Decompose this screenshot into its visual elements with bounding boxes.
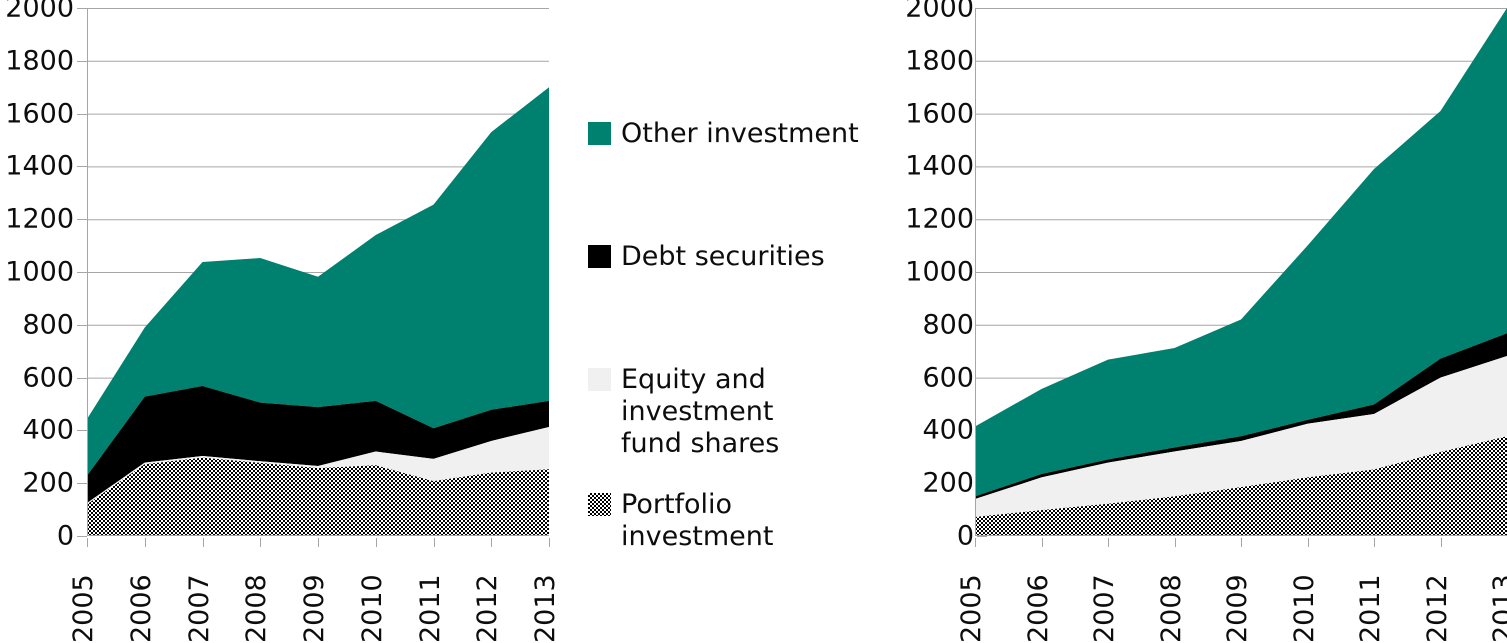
y-axis-tick-label: 1400 xyxy=(5,153,74,180)
y-axis-tick-label: 200 xyxy=(22,470,74,497)
left-y-axis: 2000180016001400120010008006004002000 xyxy=(0,0,74,545)
right-plot-area xyxy=(975,8,1507,536)
x-axis-tick-label: 2013 xyxy=(532,574,559,643)
legend-item-other-investment[interactable]: Other investment xyxy=(588,118,859,150)
y-axis-tick-label: 1600 xyxy=(5,100,74,127)
y-axis-tick-mark xyxy=(77,483,87,484)
x-axis-tick-label: 2005 xyxy=(70,574,97,643)
legend-label-other-investment: Other investment xyxy=(621,118,859,150)
left-plot-area xyxy=(87,8,549,536)
y-axis-tick-mark xyxy=(77,114,87,115)
y-axis-tick-label: 1600 xyxy=(905,100,974,127)
x-axis-tick-mark xyxy=(1441,538,1442,547)
x-axis-tick-label: 2006 xyxy=(1025,574,1052,643)
y-axis-tick-label: 1000 xyxy=(5,259,74,286)
x-axis-tick-mark xyxy=(376,538,377,547)
y-axis-tick-mark xyxy=(77,430,87,431)
x-axis-tick-mark xyxy=(434,538,435,547)
chart-page: 2000180016001400120010008006004002000 20… xyxy=(0,0,1507,623)
right-x-axis: 200520062007200820092010201120122013 xyxy=(975,538,1507,623)
x-axis-tick-mark xyxy=(145,538,146,547)
right-stacked-area-chart: 2000180016001400120010008006004002000 20… xyxy=(900,0,1507,623)
x-axis-tick-mark xyxy=(1175,538,1176,547)
x-axis-tick-mark xyxy=(87,538,88,547)
y-axis-tick-label: 800 xyxy=(22,311,74,338)
y-axis-tick-label: 600 xyxy=(922,364,974,391)
y-axis-tick-label: 400 xyxy=(22,417,74,444)
chart-legend: Other investment Debt securities Equity … xyxy=(588,0,888,623)
y-axis-tick-label: 0 xyxy=(57,523,74,550)
y-axis-tick-mark xyxy=(77,8,87,9)
y-axis-tick-mark xyxy=(77,61,87,62)
x-axis-tick-label: 2008 xyxy=(1158,574,1185,643)
y-axis-tick-mark xyxy=(77,166,87,167)
legend-item-debt-securities[interactable]: Debt securities xyxy=(588,241,825,273)
legend-swatch-checker-hatch-icon xyxy=(588,493,611,516)
x-axis-tick-label: 2009 xyxy=(301,574,328,643)
x-axis-tick-mark xyxy=(318,538,319,547)
y-axis-tick-label: 800 xyxy=(922,311,974,338)
x-axis-tick-mark xyxy=(260,538,261,547)
y-axis-tick-label: 2000 xyxy=(905,0,974,22)
x-axis-tick-label: 2005 xyxy=(958,574,985,643)
x-axis-tick-label: 2009 xyxy=(1224,574,1251,643)
y-axis-tick-label: 1800 xyxy=(5,47,74,74)
x-axis-tick-mark xyxy=(1374,538,1375,547)
x-axis-tick-mark xyxy=(1042,538,1043,547)
x-axis-tick-mark xyxy=(975,538,976,547)
x-axis-tick-label: 2010 xyxy=(359,574,386,643)
y-axis-tick-label: 1200 xyxy=(5,206,74,233)
legend-label-equity-and-investment-fund-shares: Equity and investment fund shares xyxy=(621,364,888,460)
right-y-axis: 2000180016001400120010008006004002000 xyxy=(900,0,974,545)
x-axis-tick-mark xyxy=(549,538,550,547)
x-axis-tick-label: 2007 xyxy=(186,574,213,643)
y-axis-tick-mark xyxy=(77,219,87,220)
legend-swatch-black-icon xyxy=(588,245,611,268)
y-axis-tick-label: 200 xyxy=(922,470,974,497)
x-axis-tick-label: 2013 xyxy=(1490,574,1507,643)
legend-item-portfolio-investment[interactable]: Portfolio investment xyxy=(588,489,888,553)
y-axis-tick-mark xyxy=(77,325,87,326)
x-axis-tick-label: 2011 xyxy=(417,574,444,643)
legend-item-equity-and-investment-fund-shares[interactable]: Equity and investment fund shares xyxy=(588,364,888,460)
x-axis-tick-label: 2006 xyxy=(128,574,155,643)
x-axis-tick-label: 2007 xyxy=(1091,574,1118,643)
legend-swatch-teal-icon xyxy=(588,122,611,145)
y-axis-tick-mark xyxy=(77,378,87,379)
x-axis-tick-label: 2012 xyxy=(1424,574,1451,643)
y-axis-tick-label: 1400 xyxy=(905,153,974,180)
x-axis-tick-label: 2010 xyxy=(1291,574,1318,643)
y-axis-tick-label: 1200 xyxy=(905,206,974,233)
x-axis-tick-label: 2012 xyxy=(474,574,501,643)
x-axis-tick-label: 2011 xyxy=(1357,574,1384,643)
x-axis-tick-mark xyxy=(1308,538,1309,547)
x-axis-tick-mark xyxy=(1241,538,1242,547)
y-axis-tick-mark xyxy=(977,536,987,537)
y-axis-tick-label: 0 xyxy=(957,523,974,550)
y-axis-tick-label: 1000 xyxy=(905,259,974,286)
x-axis-tick-mark xyxy=(1108,538,1109,547)
left-stacked-area-chart: 2000180016001400120010008006004002000 20… xyxy=(0,0,570,623)
legend-swatch-light-gray-icon xyxy=(588,368,611,391)
y-axis-tick-label: 600 xyxy=(22,364,74,391)
y-axis-tick-mark xyxy=(77,536,87,537)
y-axis-tick-label: 2000 xyxy=(5,0,74,22)
legend-label-portfolio-investment: Portfolio investment xyxy=(621,489,888,553)
y-axis-tick-label: 1800 xyxy=(905,47,974,74)
legend-label-debt-securities: Debt securities xyxy=(621,241,825,273)
x-axis-tick-mark xyxy=(491,538,492,547)
y-axis-tick-mark xyxy=(77,272,87,273)
x-axis-tick-label: 2008 xyxy=(243,574,270,643)
y-axis-tick-label: 400 xyxy=(922,417,974,444)
left-x-axis: 200520062007200820092010201120122013 xyxy=(87,538,549,623)
x-axis-tick-mark xyxy=(203,538,204,547)
